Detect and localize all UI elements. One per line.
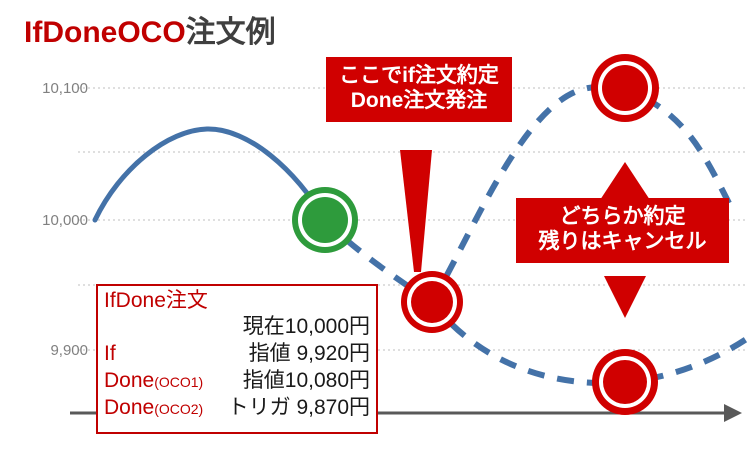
- info-row-label: If: [104, 342, 116, 366]
- info-row-label-sub: (OCO2): [154, 401, 203, 417]
- series-price-history: [95, 129, 325, 220]
- callout-oco-tail-down: [604, 276, 646, 318]
- info-row-value: 指値10,080円: [203, 369, 372, 393]
- info-row-label-sub: (OCO1): [154, 374, 203, 390]
- series-oco2-branch-down: [432, 302, 748, 383]
- info-row-done-oco1: Done(OCO1) 指値10,080円: [104, 369, 372, 396]
- info-row-current: 現在10,000円: [104, 315, 372, 342]
- y-tick-label: 9,900: [50, 343, 88, 358]
- callout-if-line-1: ここでif注文約定: [326, 64, 512, 89]
- oco1-marker[interactable]: [591, 54, 659, 122]
- info-row-value: 指値 9,920円: [116, 342, 372, 366]
- info-row-value: トリガ 9,870円: [203, 396, 372, 420]
- info-row-done-oco2: Done(OCO2) トリガ 9,870円: [104, 396, 372, 423]
- info-row-label: Done(OCO2): [104, 396, 203, 420]
- y-axis-ticks: 10,100 10,000 9,900: [0, 0, 88, 450]
- callout-if-tail: [400, 150, 432, 272]
- callout-if-line-2: Done注文発注: [326, 89, 512, 114]
- current-price-marker[interactable]: [292, 187, 358, 253]
- info-row-if: If 指値 9,920円: [104, 342, 372, 369]
- chart-canvas: IfDoneOCO注文例: [0, 0, 750, 450]
- callout-oco-tail-up: [600, 162, 650, 200]
- callout-if-filled: ここでif注文約定 Done注文発注: [326, 57, 512, 122]
- info-box-title: IfDone注文: [104, 289, 372, 314]
- order-info-box: IfDone注文 現在10,000円 If 指値 9,920円 Done(OCO…: [96, 284, 378, 434]
- info-row-label: Done(OCO1): [104, 369, 203, 393]
- info-row-label-main: Done: [104, 396, 154, 419]
- info-row-label-main: Done: [104, 369, 154, 392]
- info-row-value: 現在10,000円: [104, 315, 372, 339]
- oco2-marker[interactable]: [592, 349, 658, 415]
- y-tick-label: 10,100: [42, 81, 88, 96]
- callout-oco-line-2: 残りはキャンセル: [516, 230, 729, 255]
- y-tick-label: 10,000: [42, 213, 88, 228]
- callout-oco-line-1: どちらか約定: [516, 205, 729, 230]
- callout-oco-result: どちらか約定 残りはキャンセル: [516, 198, 729, 263]
- if-fill-marker[interactable]: [401, 271, 463, 333]
